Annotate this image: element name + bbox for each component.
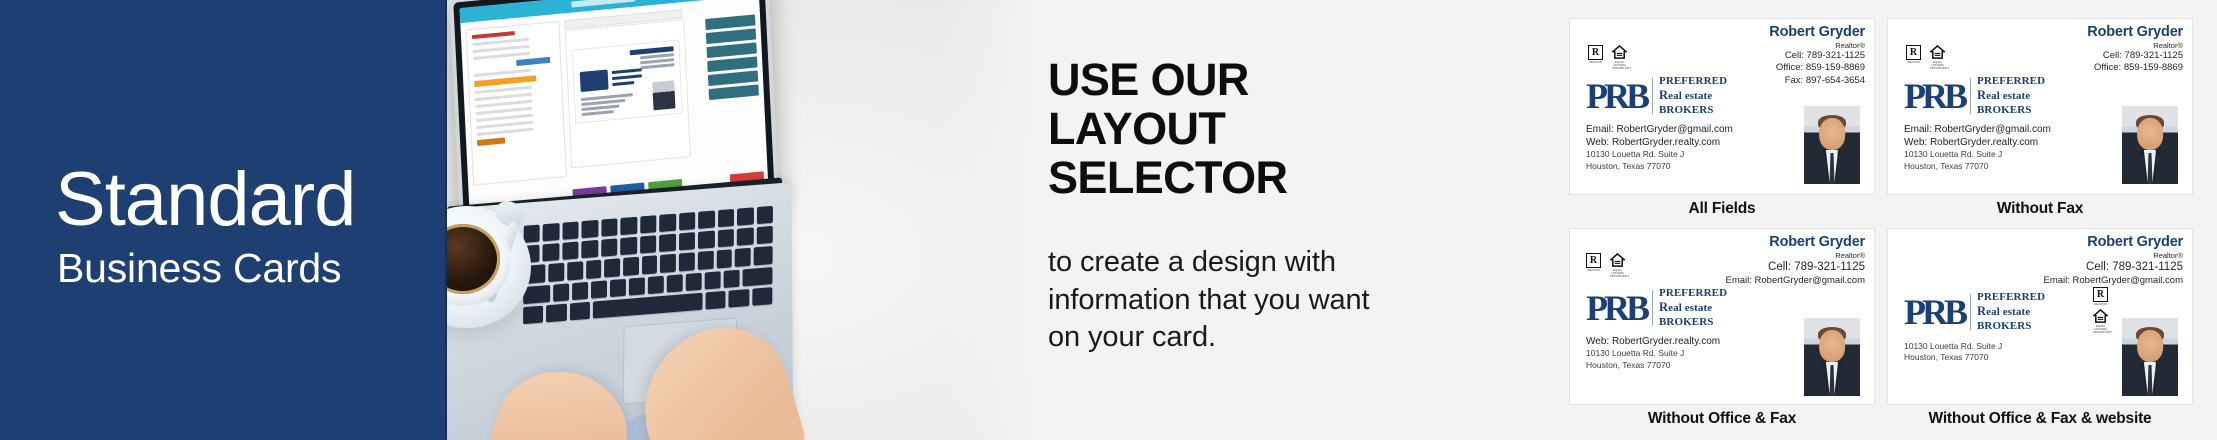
brand-word-3: Brokers <box>1977 320 2045 333</box>
card-office: Office: 859-159-8869 <box>2087 62 2183 74</box>
headline-line-3: SELECTOR <box>1048 153 1287 202</box>
card-email: Email: RobertGryder@gmail.com <box>1725 275 1865 287</box>
app-form-panel <box>466 21 567 186</box>
app-card-preview <box>572 40 683 124</box>
card-address-1: 10130 Louetta Rd. Suite J <box>1586 348 1720 359</box>
card-contact-left: Email: RobertGryder@gmail.com Web: Rober… <box>1586 123 1733 172</box>
card-role: Realtor® <box>1769 42 1865 50</box>
card-name: Robert Gryder <box>1725 235 1865 251</box>
card-badges: R REALTOR EQUAL HOUSING OPPORTUNITY <box>1588 45 1627 70</box>
business-card-preview[interactable]: Robert Gryder Realtor® Cell: 789-321-112… <box>1887 18 2193 195</box>
brand-word-1: Preferred <box>1659 75 1727 88</box>
card-email: Email: RobertGryder@gmail.com <box>1904 123 2051 136</box>
agent-headshot <box>1804 318 1860 396</box>
brand-word-2: Real estate <box>1659 88 1727 103</box>
card-address-2: Houston, Texas 77070 <box>1904 352 2002 363</box>
subcopy-line-3: on your card. <box>1048 319 1370 357</box>
card-address-2: Houston, Texas 77070 <box>1904 161 2051 172</box>
card-badges: R REALTOR EQUAL HOUSING OPPORTUNITY <box>1906 45 1945 70</box>
logo-divider <box>1970 294 1971 330</box>
card-contact-left: 10130 Louetta Rd. Suite J Houston, Texas… <box>1904 341 2002 364</box>
prb-monogram: PRB <box>1586 294 1646 322</box>
brand-logo: PRB Preferred Real estate Brokers <box>1904 291 2045 333</box>
equal-housing-glyph <box>1610 253 1625 268</box>
realtor-r-glyph: R <box>1586 253 1601 268</box>
card-option-without-office-fax-website[interactable]: Robert Gryder Realtor® Cell: 789-321-112… <box>1887 228 2193 428</box>
subcopy-line-1: to create a design with <box>1048 244 1370 282</box>
card-address-1: 10130 Louetta Rd. Suite J <box>1904 341 2002 352</box>
logo-divider <box>1970 78 1971 114</box>
card-contact-left: Email: RobertGryder@gmail.com Web: Rober… <box>1904 123 2051 172</box>
card-email: Email: RobertGryder@gmail.com <box>2043 275 2183 287</box>
headline: USE OUR LAYOUT SELECTOR <box>1048 55 1287 202</box>
equal-housing-icon: EQUAL HOUSING OPPORTUNITY <box>1612 45 1627 70</box>
card-address-2: Houston, Texas 77070 <box>1586 360 1720 371</box>
page-title: Standard <box>55 162 355 238</box>
brand-wordmark: Preferred Real estate Brokers <box>1659 287 1727 329</box>
marketing-copy: USE OUR LAYOUT SELECTOR to create a desi… <box>1048 0 1548 440</box>
agent-headshot <box>2122 106 2178 184</box>
card-contact-right: Robert Gryder Realtor® Cell: 789-321-112… <box>2043 235 2183 287</box>
hero-panel: Standard Business Cards <box>0 0 447 440</box>
brand-word-1: Preferred <box>1977 75 2045 88</box>
card-cell: Cell: 789-321-1125 <box>1769 50 1865 62</box>
logo-divider <box>1652 78 1653 114</box>
realtor-icon: R REALTOR <box>1588 45 1603 70</box>
laptop-keyboard <box>523 206 773 324</box>
brand-word-1: Preferred <box>1659 287 1727 300</box>
business-card-preview[interactable]: Robert Gryder Realtor® Cell: 789-321-112… <box>1887 228 2193 405</box>
realtor-caption: REALTOR <box>2093 303 2108 306</box>
realtor-r-glyph: R <box>1906 45 1921 60</box>
brand-wordmark: Preferred Real estate Brokers <box>1659 75 1727 117</box>
card-address-1: 10130 Louetta Rd. Suite J <box>1586 149 1733 160</box>
photo-fade-overlay <box>940 0 1050 440</box>
brand-word-3: Brokers <box>1659 104 1727 117</box>
card-web: Web: RobertGryder.realty.com <box>1586 136 1733 149</box>
equal-housing-caption: EQUAL HOUSING OPPORTUNITY <box>1612 61 1627 70</box>
app-logo <box>571 0 635 8</box>
equal-housing-icon: EQUAL HOUSING OPPORTUNITY <box>2093 309 2108 334</box>
headline-line-2: LAYOUT <box>1048 104 1287 153</box>
prb-monogram: PRB <box>1586 82 1646 110</box>
card-badges: R REALTOR EQUAL HOUSING OPPORTUNITY <box>1586 253 1625 278</box>
card-contact-left: Web: RobertGryder.realty.com 10130 Louet… <box>1586 335 1720 371</box>
brand-word-2: Real estate <box>1977 304 2045 319</box>
standard-business-cards-banner: Standard Business Cards <box>0 0 2217 440</box>
brand-logo: PRB Preferred Real estate Brokers <box>1586 287 1727 329</box>
brand-wordmark: Preferred Real estate Brokers <box>1977 75 2045 117</box>
card-badges: R REALTOR EQUAL HOUSING OPPORTUNITY <box>2093 287 2108 335</box>
logo-divider <box>1652 290 1653 326</box>
card-web: Web: RobertGryder.realty.com <box>1904 136 2051 149</box>
card-option-all-fields[interactable]: Robert Gryder Realtor® Cell: 789-321-112… <box>1569 18 1875 218</box>
equal-housing-glyph <box>1930 45 1945 60</box>
card-contact-right: Robert Gryder Realtor® Cell: 789-321-112… <box>1769 25 1865 87</box>
brand-word-2: Real estate <box>1659 300 1727 315</box>
realtor-caption: REALTOR <box>1588 61 1603 64</box>
brand-word-3: Brokers <box>1659 316 1727 329</box>
realtor-icon: R REALTOR <box>2093 287 2108 306</box>
equal-housing-glyph <box>2093 309 2108 324</box>
laptop-photo <box>447 0 1050 440</box>
card-cell: Cell: 789-321-1125 <box>2043 260 2183 275</box>
equal-housing-caption: EQUAL HOUSING OPPORTUNITY <box>1610 269 1625 278</box>
brand-word-1: Preferred <box>1977 291 2045 304</box>
business-card-preview[interactable]: Robert Gryder Realtor® Cell: 789-321-112… <box>1569 228 1875 405</box>
equal-housing-glyph <box>1612 45 1627 60</box>
subcopy: to create a design with information that… <box>1048 244 1370 357</box>
realtor-r-glyph: R <box>2093 287 2108 302</box>
card-caption: Without Office & Fax <box>1569 405 1875 428</box>
brand-logo: PRB Preferred Real estate Brokers <box>1586 75 1727 117</box>
card-contact-right: Robert Gryder Realtor® Cell: 789-321-112… <box>2087 25 2183 75</box>
card-email: Email: RobertGryder@gmail.com <box>1586 123 1733 136</box>
prb-monogram: PRB <box>1904 82 1964 110</box>
card-role: Realtor® <box>2087 42 2183 50</box>
card-office: Office: 859-159-8869 <box>1769 62 1865 74</box>
card-name: Robert Gryder <box>2043 235 2183 251</box>
card-web: Web: RobertGryder.realty.com <box>1586 335 1720 348</box>
card-caption: Without Office & Fax & website <box>1887 405 2193 428</box>
card-caption: All Fields <box>1569 195 1875 218</box>
subcopy-line-2: information that you want <box>1048 282 1370 320</box>
equal-housing-caption: EQUAL HOUSING OPPORTUNITY <box>2093 325 2108 334</box>
agent-headshot <box>2122 318 2178 396</box>
brand-word-3: Brokers <box>1977 104 2045 117</box>
equal-housing-icon: EQUAL HOUSING OPPORTUNITY <box>1930 45 1945 70</box>
card-cell: Cell: 789-321-1125 <box>2087 50 2183 62</box>
realtor-caption: REALTOR <box>1906 61 1921 64</box>
business-card-preview[interactable]: Robert Gryder Realtor® Cell: 789-321-112… <box>1569 18 1875 195</box>
card-cell: Cell: 789-321-1125 <box>1725 260 1865 275</box>
card-contact-right: Robert Gryder Realtor® Cell: 789-321-112… <box>1725 235 1865 287</box>
card-fax: Fax: 897-654-3654 <box>1769 75 1865 87</box>
card-address-1: 10130 Louetta Rd. Suite J <box>1904 149 2051 160</box>
card-layout-grid: Robert Gryder Realtor® Cell: 789-321-112… <box>1569 18 2193 428</box>
brand-wordmark: Preferred Real estate Brokers <box>1977 291 2045 333</box>
brand-word-2: Real estate <box>1977 88 2045 103</box>
app-layout-options <box>705 14 759 100</box>
card-name: Robert Gryder <box>1769 25 1865 41</box>
card-option-without-fax[interactable]: Robert Gryder Realtor® Cell: 789-321-112… <box>1887 18 2193 218</box>
realtor-r-glyph: R <box>1588 45 1603 60</box>
card-address-2: Houston, Texas 77070 <box>1586 161 1733 172</box>
card-option-without-office-fax[interactable]: Robert Gryder Realtor® Cell: 789-321-112… <box>1569 228 1875 428</box>
equal-housing-caption: EQUAL HOUSING OPPORTUNITY <box>1930 61 1945 70</box>
page-subtitle: Business Cards <box>57 248 341 289</box>
card-role: Realtor® <box>1725 252 1865 260</box>
realtor-icon: R REALTOR <box>1586 253 1601 278</box>
brand-logo: PRB Preferred Real estate Brokers <box>1904 75 2045 117</box>
card-name: Robert Gryder <box>2087 25 2183 41</box>
agent-headshot <box>1804 106 1860 184</box>
card-role: Realtor® <box>2043 252 2183 260</box>
equal-housing-icon: EQUAL HOUSING OPPORTUNITY <box>1610 253 1625 278</box>
card-caption: Without Fax <box>1887 195 2193 218</box>
prb-monogram: PRB <box>1904 298 1964 326</box>
realtor-icon: R REALTOR <box>1906 45 1921 70</box>
headline-line-1: USE OUR <box>1048 55 1287 104</box>
realtor-caption: REALTOR <box>1586 269 1601 272</box>
